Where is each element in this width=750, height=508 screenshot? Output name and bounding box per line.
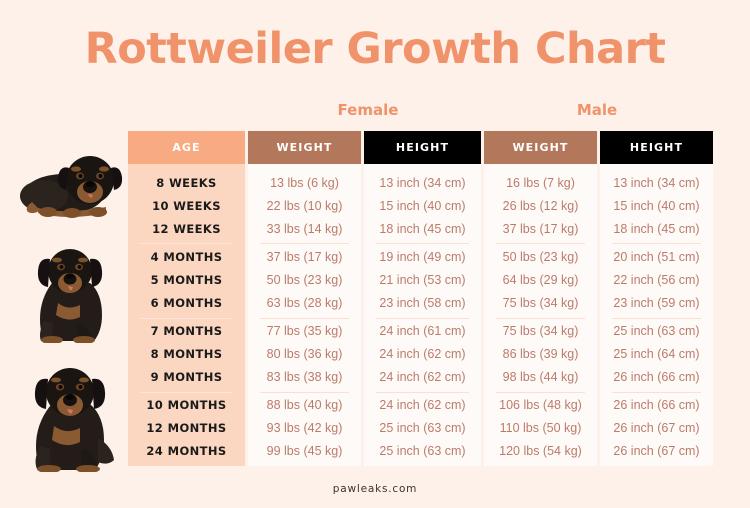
table-cell-female-height: 19 inch (49 cm) [364,246,481,269]
table-cell-female-height: 13 inch (34 cm) [364,172,481,195]
column-header-male-weight: WEIGHT [484,131,597,164]
row-group: 13 inch (34 cm) 15 inch (40 cm) 18 inch … [364,169,481,243]
gender-label-female: Female [308,101,428,119]
table-cell-age: 4 MONTHS [128,246,245,269]
column-male-weight: WEIGHT 16 lbs (7 kg) 26 lbs (12 kg) 37 l… [484,131,597,466]
column-header-female-weight: WEIGHT [248,131,361,164]
table-cell-male-height: 26 inch (67 cm) [600,417,713,440]
table-cell-male-weight: 26 lbs (12 kg) [484,195,597,218]
table-cell-male-weight: 64 lbs (29 kg) [484,269,597,292]
row-group: 20 inch (51 cm) 22 inch (56 cm) 23 inch … [600,243,713,317]
table-cell-female-weight: 50 lbs (23 kg) [248,269,361,292]
table-cell-male-weight: 50 lbs (23 kg) [484,246,597,269]
row-group: 7 MONTHS 8 MONTHS 9 MONTHS [128,318,245,392]
table-cell-male-weight: 110 lbs (50 kg) [484,417,597,440]
table-cell-age: 6 MONTHS [128,292,245,315]
table-cell-female-height: 25 inch (63 cm) [364,440,481,463]
table-cell-female-weight: 33 lbs (14 kg) [248,218,361,241]
row-group: 13 inch (34 cm) 15 inch (40 cm) 18 inch … [600,169,713,243]
rottweiler-puppy-lying-photo [14,150,126,226]
rottweiler-adolescent-sitting-photo [22,243,120,343]
row-group: 75 lbs (34 kg) 86 lbs (39 kg) 98 lbs (44… [484,318,597,392]
table-cell-age: 8 WEEKS [128,172,245,195]
table-cell-female-height: 25 inch (63 cm) [364,417,481,440]
table-cell-female-weight: 77 lbs (35 kg) [248,320,361,343]
table-cell-male-height: 20 inch (51 cm) [600,246,713,269]
table-cell-male-weight: 106 lbs (48 kg) [484,394,597,417]
gender-label-male: Male [537,101,657,119]
table-cell-female-weight: 99 lbs (45 kg) [248,440,361,463]
growth-chart-page: Rottweiler Growth Chart Female Male [0,0,750,508]
row-group: 88 lbs (40 kg) 93 lbs (42 kg) 99 lbs (45… [248,392,361,466]
table-cell-female-weight: 22 lbs (10 kg) [248,195,361,218]
table-cell-female-height: 24 inch (62 cm) [364,394,481,417]
column-header-age: AGE [128,131,245,164]
table-cell-age: 10 MONTHS [128,394,245,417]
table-cell-male-weight: 120 lbs (54 kg) [484,440,597,463]
table-cell-age: 7 MONTHS [128,320,245,343]
table-cell-female-weight: 37 lbs (17 kg) [248,246,361,269]
row-group: 24 inch (61 cm) 24 inch (62 cm) 24 inch … [364,318,481,392]
table-cell-male-height: 23 inch (59 cm) [600,292,713,315]
table-cell-age: 12 WEEKS [128,218,245,241]
column-body-male-height: 13 inch (34 cm) 15 inch (40 cm) 18 inch … [600,164,713,466]
table-cell-age: 10 WEEKS [128,195,245,218]
table-cell-male-height: 25 inch (63 cm) [600,320,713,343]
table-cell-male-height: 26 inch (66 cm) [600,394,713,417]
table-cell-male-weight: 75 lbs (34 kg) [484,320,597,343]
table-cell-male-height: 13 inch (34 cm) [600,172,713,195]
table-cell-female-weight: 13 lbs (6 kg) [248,172,361,195]
table-cell-female-height: 21 inch (53 cm) [364,269,481,292]
table-cell-male-weight: 86 lbs (39 kg) [484,343,597,366]
column-age: AGE 8 WEEKS 10 WEEKS 12 WEEKS 4 MONTHS 5… [128,131,245,466]
table-cell-age: 5 MONTHS [128,269,245,292]
row-group: 16 lbs (7 kg) 26 lbs (12 kg) 37 lbs (17 … [484,169,597,243]
row-group: 13 lbs (6 kg) 22 lbs (10 kg) 33 lbs (14 … [248,169,361,243]
row-group: 4 MONTHS 5 MONTHS 6 MONTHS [128,243,245,317]
table-cell-female-height: 24 inch (61 cm) [364,320,481,343]
column-body-male-weight: 16 lbs (7 kg) 26 lbs (12 kg) 37 lbs (17 … [484,164,597,466]
table-cell-male-weight: 75 lbs (34 kg) [484,292,597,315]
footer-attribution: pawleaks.com [0,483,750,495]
table-cell-female-weight: 93 lbs (42 kg) [248,417,361,440]
row-group: 106 lbs (48 kg) 110 lbs (50 kg) 120 lbs … [484,392,597,466]
table-cell-female-height: 15 inch (40 cm) [364,195,481,218]
row-group: 77 lbs (35 kg) 80 lbs (36 kg) 83 lbs (38… [248,318,361,392]
table-cell-female-height: 23 inch (58 cm) [364,292,481,315]
table-cell-male-height: 18 inch (45 cm) [600,218,713,241]
rottweiler-adult-sitting-photo [20,362,124,472]
row-group: 37 lbs (17 kg) 50 lbs (23 kg) 63 lbs (28… [248,243,361,317]
row-group: 19 inch (49 cm) 21 inch (53 cm) 23 inch … [364,243,481,317]
column-header-male-height: HEIGHT [600,131,713,164]
column-female-height: HEIGHT 13 inch (34 cm) 15 inch (40 cm) 1… [364,131,481,466]
column-female-weight: WEIGHT 13 lbs (6 kg) 22 lbs (10 kg) 33 l… [248,131,361,466]
column-male-height: HEIGHT 13 inch (34 cm) 15 inch (40 cm) 1… [600,131,713,466]
table-cell-male-height: 26 inch (67 cm) [600,440,713,463]
column-header-female-height: HEIGHT [364,131,481,164]
table-cell-female-weight: 63 lbs (28 kg) [248,292,361,315]
table-cell-female-height: 24 inch (62 cm) [364,366,481,389]
table-cell-male-height: 22 inch (56 cm) [600,269,713,292]
table-cell-male-weight: 16 lbs (7 kg) [484,172,597,195]
table-cell-age: 9 MONTHS [128,366,245,389]
table-cell-male-height: 15 inch (40 cm) [600,195,713,218]
row-group: 50 lbs (23 kg) 64 lbs (29 kg) 75 lbs (34… [484,243,597,317]
row-group: 25 inch (63 cm) 25 inch (64 cm) 26 inch … [600,318,713,392]
table-cell-male-height: 25 inch (64 cm) [600,343,713,366]
table-cell-female-weight: 80 lbs (36 kg) [248,343,361,366]
row-group: 8 WEEKS 10 WEEKS 12 WEEKS [128,169,245,243]
table-cell-age: 12 MONTHS [128,417,245,440]
table-cell-female-weight: 83 lbs (38 kg) [248,366,361,389]
column-body-age: 8 WEEKS 10 WEEKS 12 WEEKS 4 MONTHS 5 MON… [128,164,245,466]
table-cell-male-height: 26 inch (66 cm) [600,366,713,389]
growth-chart-table: AGE 8 WEEKS 10 WEEKS 12 WEEKS 4 MONTHS 5… [128,131,713,466]
table-cell-male-weight: 98 lbs (44 kg) [484,366,597,389]
table-cell-female-weight: 88 lbs (40 kg) [248,394,361,417]
table-cell-age: 8 MONTHS [128,343,245,366]
table-cell-female-height: 24 inch (62 cm) [364,343,481,366]
row-group: 10 MONTHS 12 MONTHS 24 MONTHS [128,392,245,466]
row-group: 24 inch (62 cm) 25 inch (63 cm) 25 inch … [364,392,481,466]
table-cell-female-height: 18 inch (45 cm) [364,218,481,241]
column-body-female-height: 13 inch (34 cm) 15 inch (40 cm) 18 inch … [364,164,481,466]
table-cell-age: 24 MONTHS [128,440,245,463]
row-group: 26 inch (66 cm) 26 inch (67 cm) 26 inch … [600,392,713,466]
table-cell-male-weight: 37 lbs (17 kg) [484,218,597,241]
column-body-female-weight: 13 lbs (6 kg) 22 lbs (10 kg) 33 lbs (14 … [248,164,361,466]
page-title: Rottweiler Growth Chart [0,24,750,74]
